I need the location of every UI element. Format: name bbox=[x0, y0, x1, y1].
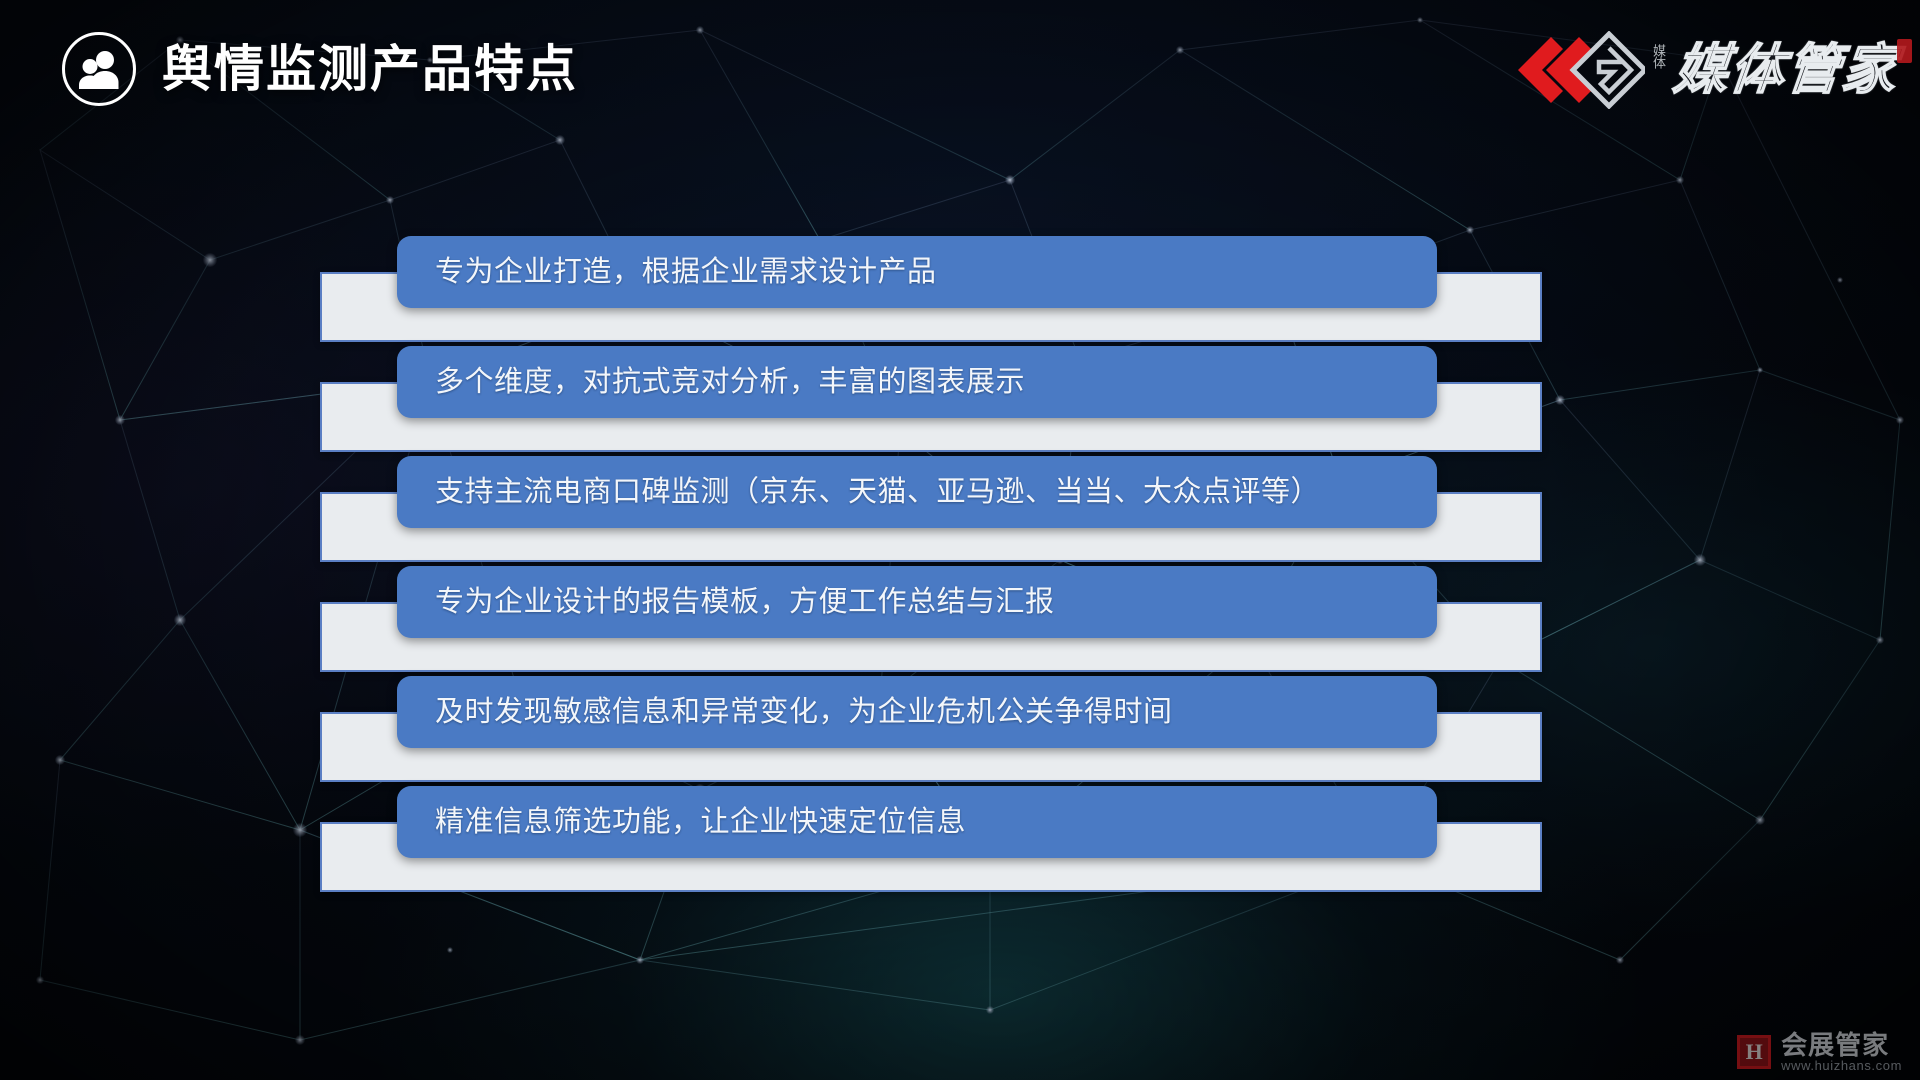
double-chevron-diamond-icon bbox=[1513, 31, 1645, 109]
feature-pill[interactable]: 及时发现敏感信息和异常变化，为企业危机公关争得时间 bbox=[397, 676, 1437, 748]
list-item: 及时发现敏感信息和异常变化，为企业危机公关争得时间 bbox=[0, 676, 1920, 786]
users-icon bbox=[62, 32, 136, 106]
feature-label: 多个维度，对抗式竞对分析，丰富的图表展示 bbox=[435, 368, 1025, 397]
watermark-url: www.huizhans.com bbox=[1781, 1059, 1902, 1072]
brand-stamp: 媒体 bbox=[1653, 44, 1664, 96]
feature-pill[interactable]: 多个维度，对抗式竞对分析，丰富的图表展示 bbox=[397, 346, 1437, 418]
brand-seal-icon bbox=[1897, 39, 1912, 63]
list-item: 专为企业设计的报告模板，方便工作总结与汇报 bbox=[0, 566, 1920, 676]
feature-label: 支持主流电商口碑监测（京东、天猫、亚马逊、当当、大众点评等） bbox=[435, 478, 1320, 507]
watermark: H 会展管家 www.huizhans.com bbox=[1737, 1032, 1902, 1072]
feature-list: 专为企业打造，根据企业需求设计产品 多个维度，对抗式竞对分析，丰富的图表展示 支… bbox=[0, 236, 1920, 896]
list-item: 多个维度，对抗式竞对分析，丰富的图表展示 bbox=[0, 346, 1920, 456]
slide-header: 舆情监测产品特点 媒体 媒 体 管 家 bbox=[0, 0, 1920, 150]
brand-char-1: 媒 bbox=[1671, 43, 1731, 97]
watermark-badge-letter: H bbox=[1746, 1041, 1763, 1063]
title-block: 舆情监测产品特点 bbox=[62, 32, 578, 106]
watermark-name: 会展管家 bbox=[1781, 1032, 1902, 1058]
brand-char-4: 家 bbox=[1839, 43, 1899, 97]
list-item: 支持主流电商口碑监测（京东、天猫、亚马逊、当当、大众点评等） bbox=[0, 456, 1920, 566]
slide-root: 舆情监测产品特点 媒体 媒 体 管 家 bbox=[0, 0, 1920, 1080]
feature-pill[interactable]: 专为企业打造，根据企业需求设计产品 bbox=[397, 236, 1437, 308]
list-item: 精准信息筛选功能，让企业快速定位信息 bbox=[0, 786, 1920, 896]
feature-label: 精准信息筛选功能，让企业快速定位信息 bbox=[435, 808, 966, 837]
brand-wordmark: 媒 体 管 家 bbox=[1674, 43, 1896, 97]
watermark-badge-icon: H bbox=[1737, 1035, 1771, 1069]
feature-label: 专为企业设计的报告模板，方便工作总结与汇报 bbox=[435, 588, 1055, 617]
feature-pill[interactable]: 支持主流电商口碑监测（京东、天猫、亚马逊、当当、大众点评等） bbox=[397, 456, 1437, 528]
feature-label: 专为企业打造，根据企业需求设计产品 bbox=[435, 258, 937, 287]
feature-pill[interactable]: 专为企业设计的报告模板，方便工作总结与汇报 bbox=[397, 566, 1437, 638]
page-title: 舆情监测产品特点 bbox=[162, 44, 578, 94]
brand-char-3: 管 bbox=[1783, 43, 1843, 97]
feature-pill[interactable]: 精准信息筛选功能，让企业快速定位信息 bbox=[397, 786, 1437, 858]
watermark-text: 会展管家 www.huizhans.com bbox=[1781, 1032, 1902, 1072]
feature-label: 及时发现敏感信息和异常变化，为企业危机公关争得时间 bbox=[435, 698, 1173, 727]
brand-char-2: 体 bbox=[1727, 43, 1787, 97]
list-item: 专为企业打造，根据企业需求设计产品 bbox=[0, 236, 1920, 346]
brand-logo: 媒体 媒 体 管 家 bbox=[1513, 28, 1896, 112]
